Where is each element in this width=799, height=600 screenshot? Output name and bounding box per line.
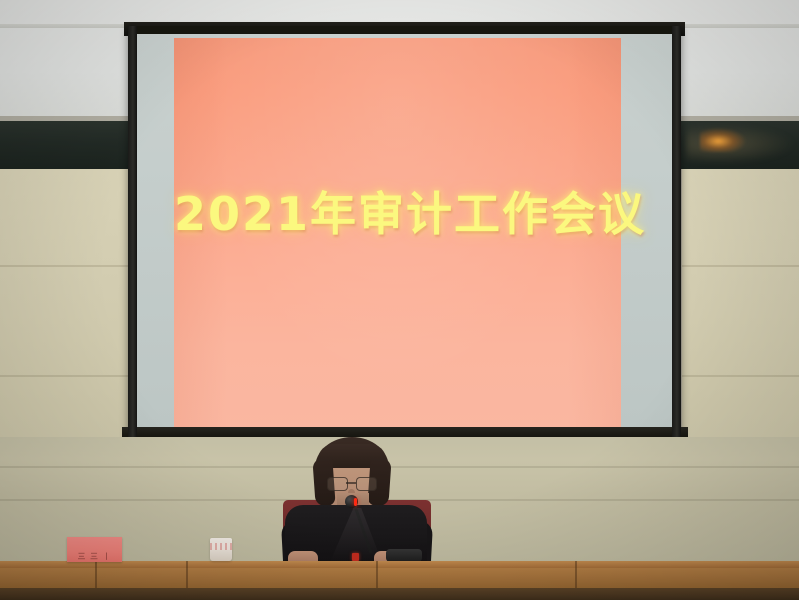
lapel-badge-icon (352, 553, 359, 561)
stone-seam (0, 265, 128, 267)
name-card-text: 三 三 丨 (67, 552, 122, 561)
microphone-led-icon (354, 498, 357, 506)
name-card-placard: 三 三 丨 (67, 537, 122, 562)
wall-seam (0, 466, 799, 468)
table-seam (376, 561, 378, 591)
screen-frame-post-right (672, 26, 681, 438)
table-seam (186, 561, 188, 591)
amber-light-reflection (700, 128, 746, 152)
conference-room-photo: 2021年审计工作会议 三 三 丨 (0, 0, 799, 600)
stone-seam (0, 375, 128, 377)
tea-cup (210, 538, 232, 561)
table-front-panel (0, 568, 799, 590)
stone-seam (682, 265, 799, 267)
table-shadow (0, 588, 799, 600)
glasses-lens-right (356, 477, 377, 491)
table-seam (575, 561, 577, 591)
stone-seam (682, 375, 799, 377)
screen-frame-post-left (128, 26, 137, 438)
glasses-lens-left (327, 477, 348, 491)
glasses-bridge (346, 482, 356, 484)
cup-pattern-band (210, 543, 232, 550)
dark-wall-band-left (0, 121, 129, 169)
slide-title: 2021年审计工作会议 (174, 178, 621, 244)
table-seam (95, 561, 97, 591)
